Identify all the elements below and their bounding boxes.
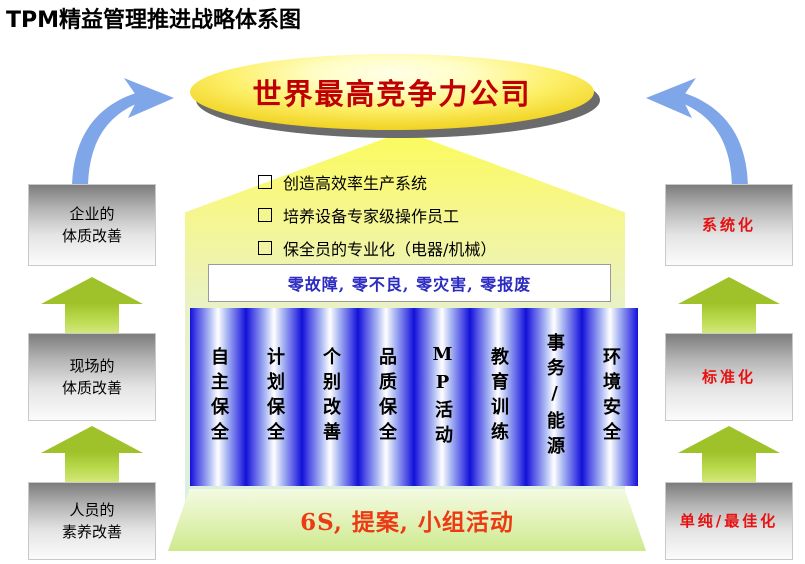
arrow-up-icon — [41, 426, 143, 482]
right-box-systemization: 系统化 — [665, 184, 793, 266]
pillar: 环境安全 — [582, 308, 638, 486]
pillar: 事务/能源 — [526, 308, 582, 486]
left-box-line: 体质改善 — [62, 225, 122, 248]
pillars-group: 自主保全 计划保全 个别改善 品质保全 MP活动 教育训练 事务/能源 环境安全 — [190, 308, 638, 486]
goal-item: 保全员的专业化（电器/机械） — [258, 236, 496, 260]
right-box-line: 系统化 — [702, 214, 756, 237]
pillar-label: 自主保全 — [209, 347, 227, 447]
pillar-label: 计划保全 — [265, 347, 283, 447]
goal-item: 创造高效率生产系统 — [258, 170, 496, 194]
arrow-up-stem — [702, 452, 756, 482]
page-title: TPM精益管理推进战略体系图 — [6, 2, 301, 34]
arrow-up-head — [41, 426, 143, 453]
arrow-up-icon — [678, 277, 780, 333]
right-box-line: 单纯/最佳化 — [680, 510, 778, 533]
left-box-personnel: 人员的 素养改善 — [28, 482, 156, 560]
pillar: 品质保全 — [358, 308, 414, 486]
foundation-band: 6S, 提案, 小组活动 — [168, 489, 646, 551]
pillar: 个别改善 — [302, 308, 358, 486]
foundation-label: 6S, 提案, 小组活动 — [300, 503, 514, 537]
right-box-optimization: 单纯/最佳化 — [665, 482, 793, 560]
left-box-enterprise: 企业的 体质改善 — [28, 184, 156, 266]
right-box-standardization: 标准化 — [665, 333, 793, 421]
left-box-shopfloor: 现场的 体质改善 — [28, 333, 156, 421]
left-box-line: 企业的 — [69, 203, 114, 226]
arrow-up-stem — [65, 452, 119, 482]
empty-checkbox-icon — [258, 241, 272, 255]
goal-item: 培养设备专家级操作员工 — [258, 203, 496, 227]
empty-checkbox-icon — [258, 175, 272, 189]
zero-loss-label: 零故障, 零不良, 零灾害, 零报废 — [288, 271, 531, 295]
pillar: 教育训练 — [470, 308, 526, 486]
goal-item-label: 培养设备专家级操作员工 — [283, 203, 459, 227]
curved-arrow-up-right-icon — [62, 72, 222, 192]
arrow-up-icon — [41, 277, 143, 333]
pillar-label: MP活动 — [433, 344, 451, 450]
arrow-up-icon — [678, 426, 780, 482]
arrow-up-stem — [65, 303, 119, 333]
left-box-line: 人员的 — [69, 499, 114, 522]
pillar-label: 品质保全 — [377, 347, 395, 447]
arrow-up-head — [41, 277, 143, 304]
left-box-line: 素养改善 — [62, 521, 122, 544]
goal-item-label: 创造高效率生产系统 — [283, 170, 427, 194]
empty-checkbox-icon — [258, 208, 272, 222]
pillar: 自主保全 — [190, 308, 246, 486]
goal-item-label: 保全员的专业化（电器/机械） — [283, 236, 496, 260]
vision-label: 世界最高竞争力公司 — [252, 71, 531, 113]
pillar-label: 个别改善 — [321, 347, 339, 447]
pillar: MP活动 — [414, 308, 470, 486]
left-box-line: 现场的 — [69, 355, 114, 378]
pillar-label: 教育训练 — [489, 347, 507, 447]
curved-arrow-up-left-icon — [598, 72, 758, 192]
arrow-up-stem — [702, 303, 756, 333]
left-box-line: 体质改善 — [62, 377, 122, 400]
pillar-label: 环境安全 — [601, 347, 619, 447]
arrow-up-head — [678, 277, 780, 304]
right-box-line: 标准化 — [702, 366, 756, 389]
pillar: 计划保全 — [246, 308, 302, 486]
pillar-label: 事务/能源 — [545, 333, 563, 461]
zero-loss-banner: 零故障, 零不良, 零灾害, 零报废 — [208, 264, 611, 302]
arrow-up-head — [678, 426, 780, 453]
vision-ellipse: 世界最高竞争力公司 — [190, 54, 594, 130]
goal-list: 创造高效率生产系统 培养设备专家级操作员工 保全员的专业化（电器/机械） — [258, 170, 496, 269]
